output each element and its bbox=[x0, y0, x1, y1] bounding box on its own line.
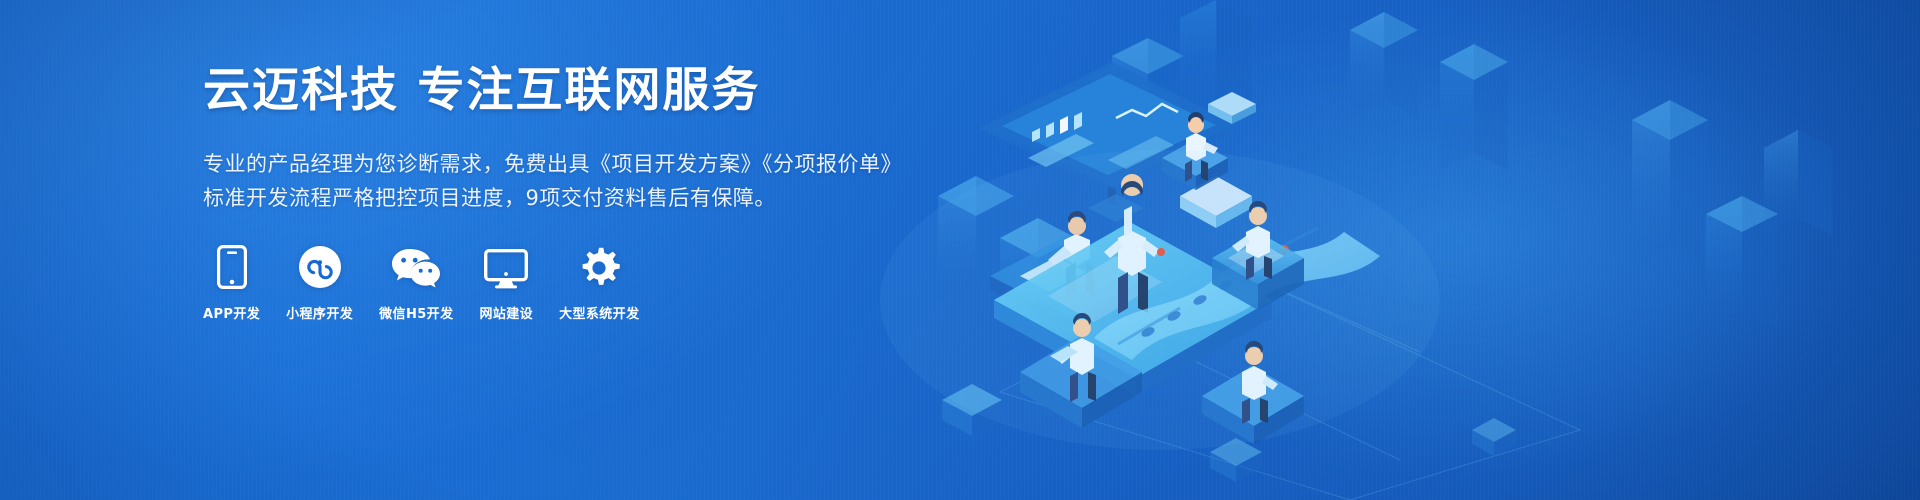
service-item-miniprogram[interactable]: 小程序开发 bbox=[286, 243, 353, 322]
illustration-isometric-team-analytics bbox=[880, 0, 1920, 500]
service-item-app[interactable]: APP开发 bbox=[203, 243, 260, 322]
monitor-icon bbox=[484, 243, 528, 289]
service-item-website[interactable]: 网站建设 bbox=[479, 243, 533, 322]
service-list: APP开发 小程序开发 bbox=[203, 243, 923, 322]
subtitle-line-2: 标准开发流程严格把控项目进度，9项交付资料售后有保障。 bbox=[203, 181, 923, 215]
page-title: 云迈科技 专注互联网服务 bbox=[203, 66, 923, 117]
gear-icon bbox=[578, 243, 620, 289]
service-label: 大型系统开发 bbox=[559, 303, 639, 322]
mobile-phone-icon bbox=[217, 243, 247, 289]
service-label: APP开发 bbox=[203, 303, 260, 322]
hero-banner: 云迈科技 专注互联网服务 专业的产品经理为您诊断需求，免费出具《项目开发方案》《… bbox=[0, 0, 1920, 500]
mini-program-icon bbox=[298, 243, 342, 289]
service-label: 网站建设 bbox=[479, 303, 533, 322]
wechat-icon bbox=[391, 243, 441, 289]
service-label: 微信H5开发 bbox=[379, 303, 453, 322]
service-item-wechat-h5[interactable]: 微信H5开发 bbox=[379, 243, 453, 322]
service-label: 小程序开发 bbox=[286, 303, 353, 322]
subtitle-line-1: 专业的产品经理为您诊断需求，免费出具《项目开发方案》《分项报价单》 bbox=[203, 147, 923, 181]
service-item-large-system[interactable]: 大型系统开发 bbox=[559, 243, 639, 322]
hero-content: 云迈科技 专注互联网服务 专业的产品经理为您诊断需求，免费出具《项目开发方案》《… bbox=[203, 66, 923, 322]
